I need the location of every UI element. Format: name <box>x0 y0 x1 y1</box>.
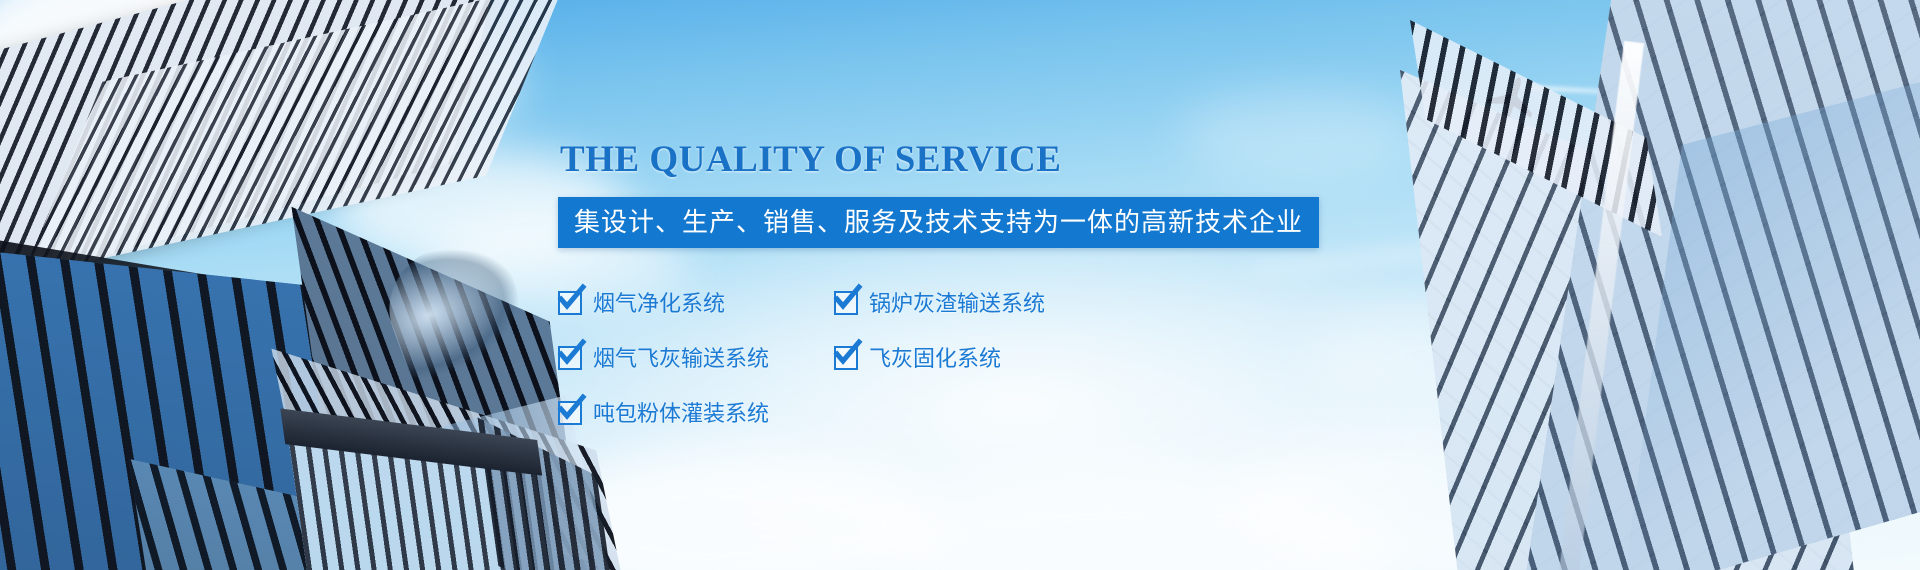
checkbox-checked-icon <box>834 291 856 313</box>
list-item[interactable]: 吨包粉体灌装系统 <box>558 396 834 428</box>
subtitle-bar: 集设计、生产、销售、服务及技术支持为一体的高新技术企业 <box>558 197 1319 248</box>
list-item[interactable]: 烟气飞灰输送系统 <box>558 341 834 373</box>
list-item-label: 烟气净化系统 <box>593 286 725 318</box>
list-item-label: 锅炉灰渣输送系统 <box>869 286 1045 318</box>
skyscraper-small <box>289 401 601 570</box>
banner-content: THE QUALITY OF SERVICE 集设计、生产、销售、服务及技术支持… <box>558 138 1458 428</box>
checkbox-checked-icon <box>558 401 580 423</box>
checkbox-checked-icon <box>558 346 580 368</box>
list-item-label: 烟气飞灰输送系统 <box>593 341 769 373</box>
list-item[interactable]: 飞灰固化系统 <box>834 341 1318 373</box>
checkbox-checked-icon <box>834 346 856 368</box>
feature-list: 烟气净化系统 锅炉灰渣输送系统 烟气飞灰输送系统 <box>558 286 1318 428</box>
list-item[interactable]: 锅炉灰渣输送系统 <box>834 286 1318 318</box>
page-title: THE QUALITY OF SERVICE <box>560 138 1458 181</box>
checkbox-checked-icon <box>558 291 580 313</box>
list-item-label: 飞灰固化系统 <box>869 341 1001 373</box>
list-item-label: 吨包粉体灌装系统 <box>593 396 769 428</box>
list-item[interactable]: 烟气净化系统 <box>558 286 834 318</box>
hero-banner: THE QUALITY OF SERVICE 集设计、生产、销售、服务及技术支持… <box>0 0 1920 570</box>
